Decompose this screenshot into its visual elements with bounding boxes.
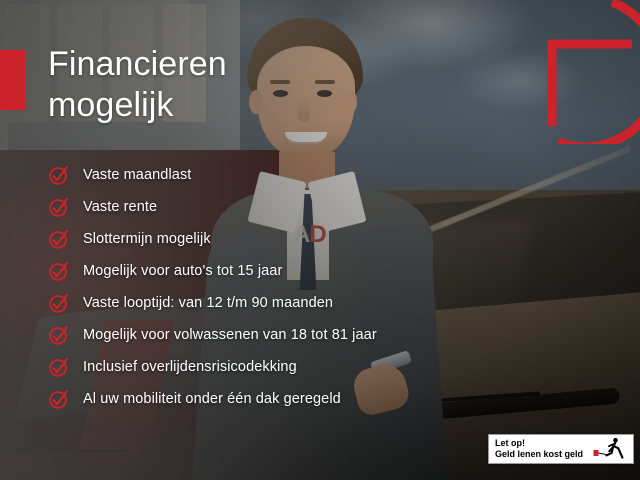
check-circle-icon: [48, 356, 70, 378]
list-item-label: Vaste looptijd: van 12 t/m 90 maanden: [83, 295, 333, 311]
list-item-label: Mogelijk voor auto's tot 15 jaar: [83, 263, 282, 279]
man-pulling-weight-icon: [593, 437, 627, 461]
list-item-label: Mogelijk voor volwassenen van 18 tot 81 …: [83, 327, 377, 343]
list-item: Mogelijk voor volwassenen van 18 tot 81 …: [48, 319, 518, 351]
red-accent-block: [0, 50, 25, 110]
list-item-label: Vaste maandlast: [83, 167, 191, 183]
list-item: Vaste maandlast: [48, 159, 518, 191]
credit-warning-line-2: Geld lenen kost geld: [495, 449, 583, 460]
headline: Financieren mogelijk: [48, 44, 348, 127]
check-circle-icon: [48, 324, 70, 346]
banner-root: AD Financieren mogelijk Vaste maandlast: [0, 0, 640, 480]
list-item: Vaste looptijd: van 12 t/m 90 maanden: [48, 287, 518, 319]
list-item-label: Inclusief overlijdensrisicodekking: [83, 359, 297, 375]
list-item: Vaste rente: [48, 191, 518, 223]
list-item: Al uw mobiliteit onder één dak geregeld: [48, 383, 518, 415]
check-circle-icon: [48, 388, 70, 410]
check-circle-icon: [48, 196, 70, 218]
check-circle-icon: [48, 164, 70, 186]
list-item: Slottermijn mogelijk: [48, 223, 518, 255]
red-circular-arrow-arc-icon: [540, 0, 640, 144]
list-item: Mogelijk voor auto's tot 15 jaar: [48, 255, 518, 287]
credit-warning-badge: Let op! Geld lenen kost geld: [488, 434, 634, 464]
check-circle-icon: [48, 260, 70, 282]
check-circle-icon: [48, 228, 70, 250]
credit-warning-line-1: Let op!: [495, 438, 583, 449]
headline-line-1: Financieren: [48, 44, 348, 85]
check-circle-icon: [48, 292, 70, 314]
feature-list: Vaste maandlast Vaste rente Slottermijn …: [48, 159, 518, 415]
headline-line-2: mogelijk: [48, 85, 348, 126]
credit-warning-text: Let op! Geld lenen kost geld: [495, 438, 583, 460]
list-item-label: Vaste rente: [83, 199, 157, 215]
list-item-label: Slottermijn mogelijk: [83, 231, 211, 247]
list-item: Inclusief overlijdensrisicodekking: [48, 351, 518, 383]
list-item-label: Al uw mobiliteit onder één dak geregeld: [83, 391, 341, 407]
